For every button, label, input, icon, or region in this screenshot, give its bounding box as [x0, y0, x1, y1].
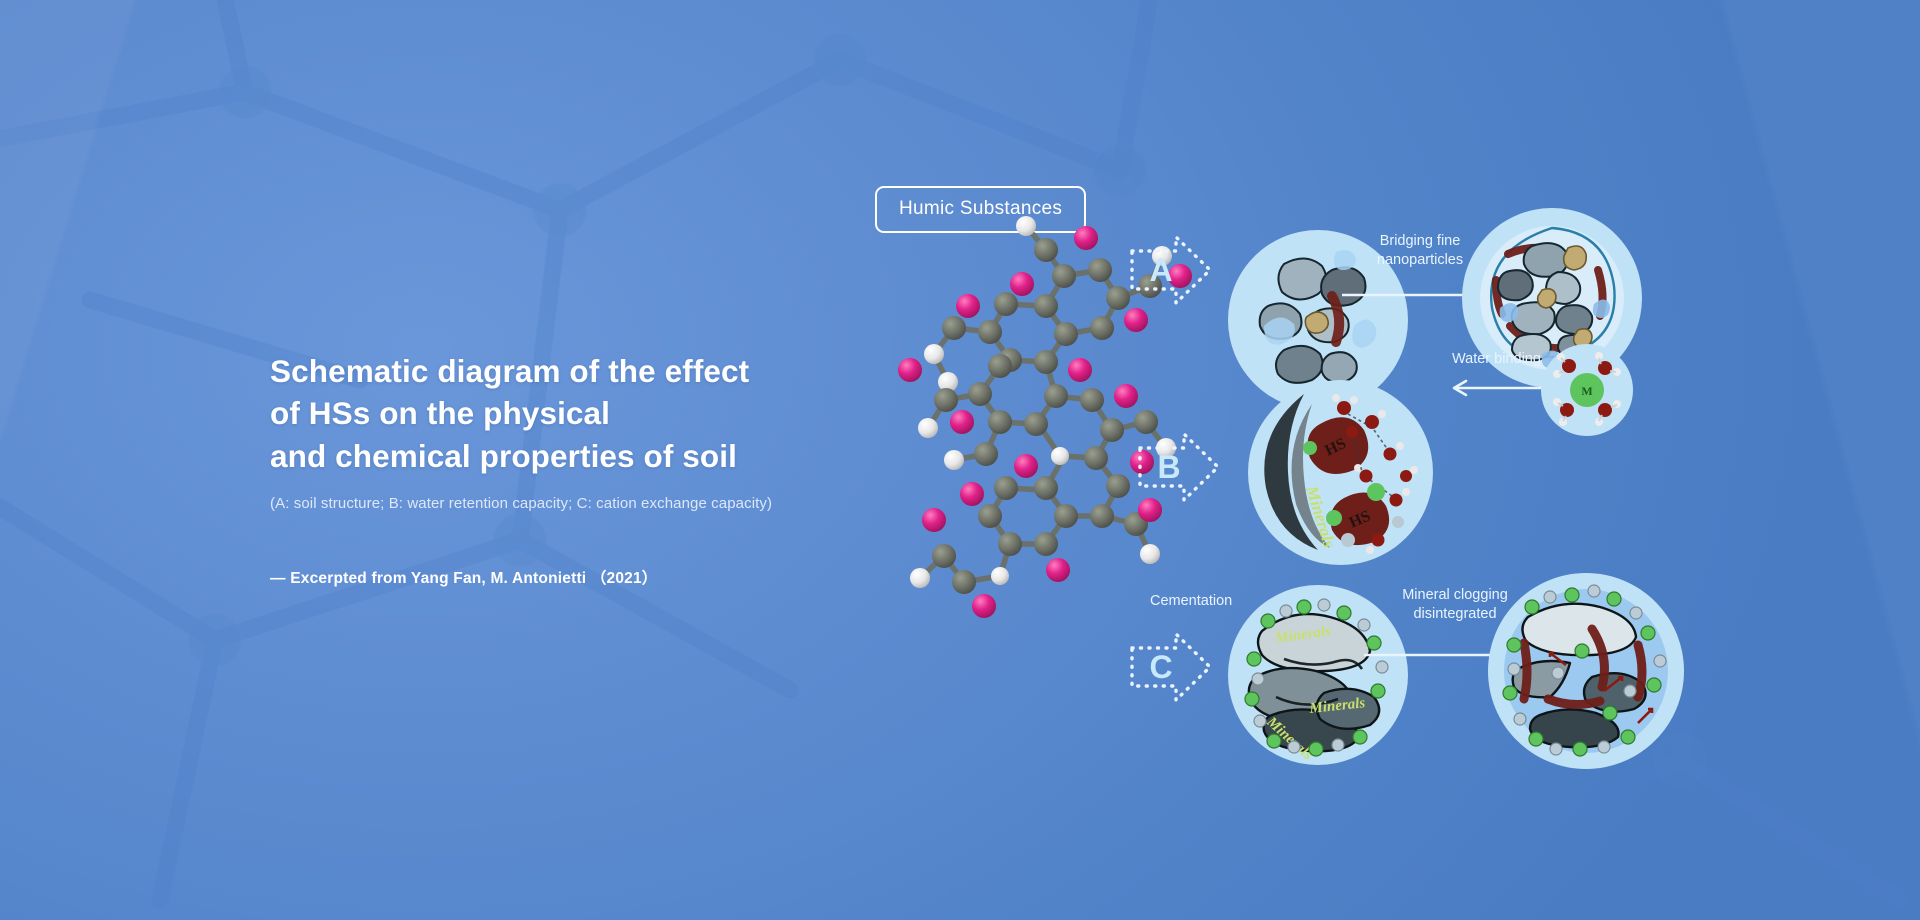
flow-label-bridging: Bridging fine nanoparticles	[1377, 232, 1463, 269]
step-arrow-b: B	[1136, 430, 1222, 504]
flow-label-mineral-clogging-line2: disintegrated	[1402, 605, 1508, 624]
title-caption: (A: soil structure; B: water retention c…	[270, 493, 910, 514]
title-line-3: and chemical properties of soil	[270, 435, 910, 477]
title-line-1: Schematic diagram of the effect	[270, 350, 910, 392]
flow-label-mineral-clogging: Mineral clogging disintegrated	[1402, 586, 1508, 623]
flow-label-water-binding-line1: Water binding	[1452, 350, 1541, 369]
flow-label-water-binding: Water binding	[1452, 350, 1541, 369]
step-letter-b: B	[1142, 430, 1196, 504]
flow-label-mineral-clogging-line1: Mineral clogging	[1402, 586, 1508, 605]
cation-inline-label: M	[1581, 384, 1592, 398]
flow-label-cementation-text: Cementation	[1150, 592, 1232, 611]
step-arrow-c: C	[1128, 630, 1214, 704]
circle-cemented-mineral-cluster: Minerals Minerals Minerals	[1228, 585, 1408, 765]
title-line-2: of HSs on the physical	[270, 392, 910, 434]
headline-block: Schematic diagram of the effect of HSs o…	[270, 350, 910, 588]
step-letter-c: C	[1134, 630, 1188, 704]
step-letter-a: A	[1134, 233, 1188, 307]
page-title: Schematic diagram of the effect of HSs o…	[270, 350, 910, 477]
circle-disintegrated-mineral-cluster	[1488, 573, 1684, 769]
flow-label-bridging-line1: Bridging fine	[1377, 232, 1463, 251]
circle-hydrated-cation-cluster: M	[1541, 344, 1633, 436]
circle-hs-coated-mineral-with-water: Minerals HS HS	[1248, 380, 1433, 565]
flow-label-bridging-line2: nanoparticles	[1377, 251, 1463, 270]
source-attribution: — Excerpted from Yang Fan, M. Antonietti…	[270, 566, 910, 588]
poster-canvas: Schematic diagram of the effect of HSs o…	[0, 0, 1920, 920]
flow-label-cementation: Cementation	[1150, 592, 1232, 611]
step-arrow-a: A	[1128, 233, 1214, 307]
